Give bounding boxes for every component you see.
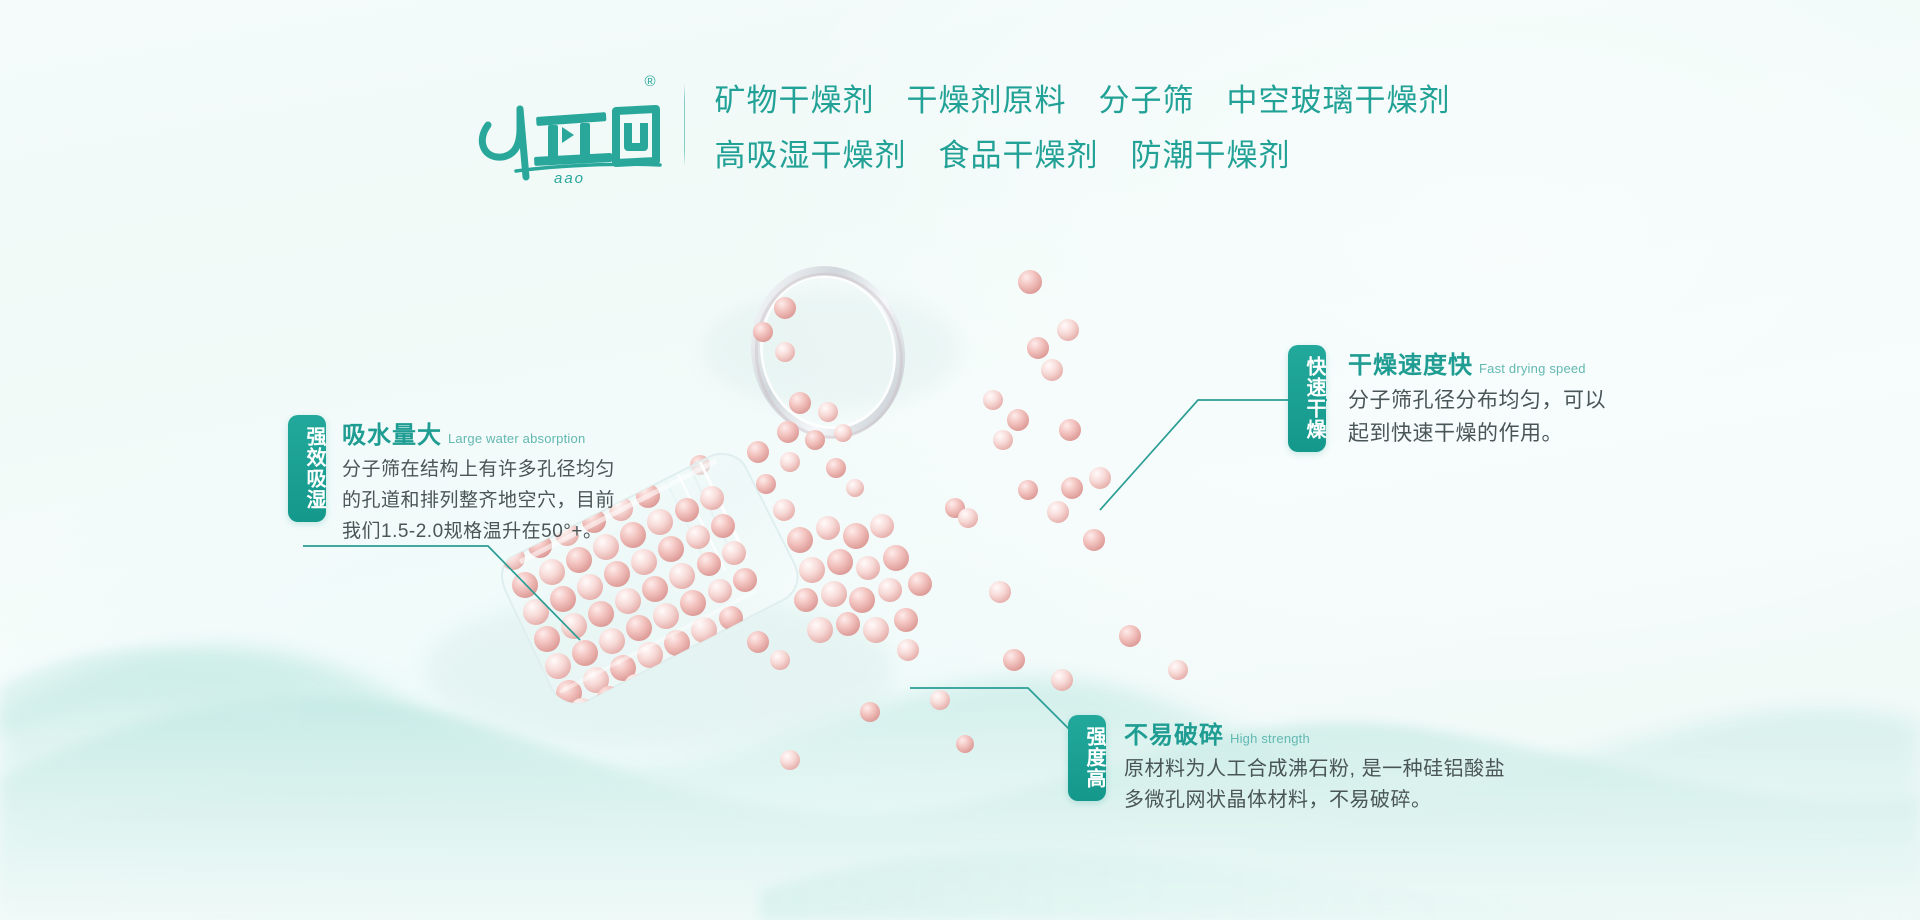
callout-text-speed: 分子筛孔径分布均匀，可以 起到快速干燥的作用。 [1348, 384, 1606, 450]
nav-item-insulating-glass-desiccant[interactable]: 中空玻璃干燥剂 [1227, 75, 1451, 120]
nav-item-molecular-sieve[interactable]: 分子筛 [1099, 75, 1195, 120]
background-waves [0, 590, 1920, 920]
callout-tag-strength: 强度高 [1068, 715, 1106, 801]
callout-large-water-absorption: 强效吸湿 吸水量大 Large water absorption 分子筛在结构上… [288, 415, 615, 547]
callout-subtitle-strength: High strength [1230, 731, 1310, 746]
callout-body-absorption: 吸水量大 Large water absorption 分子筛在结构上有许多孔径… [326, 415, 615, 547]
nav-row-1: 矿物干燥剂 干燥剂原料 分子筛 中空玻璃干燥剂 [715, 75, 1451, 120]
callout-body-speed: 干燥速度快 Fast drying speed 分子筛孔径分布均匀，可以 起到快… [1326, 345, 1606, 450]
registered-trademark-icon: ® [644, 73, 655, 90]
callout-tag-speed: 快速干燥 [1288, 345, 1326, 452]
leader-line-strength [910, 688, 1076, 736]
callout-heading-absorption: 吸水量大 Large water absorption [342, 415, 615, 450]
header-divider [684, 83, 685, 167]
svg-text:aao: aao [554, 170, 585, 185]
logo-mark-icon: aao [470, 65, 670, 185]
callout-heading-speed: 干燥速度快 Fast drying speed [1348, 345, 1606, 380]
callout-fast-drying-speed: 快速干燥 干燥速度快 Fast drying speed 分子筛孔径分布均匀，可… [1288, 345, 1606, 452]
callout-high-strength: 强度高 不易破碎 High strength 原材料为人工合成沸石粉, 是一种硅… [1068, 715, 1505, 816]
callout-title-strength: 不易破碎 [1124, 715, 1224, 750]
callout-text-strength: 原材料为人工合成沸石粉, 是一种硅铝酸盐 多微孔网状晶体材料，不易破碎。 [1124, 754, 1505, 816]
callout-title-speed: 干燥速度快 [1348, 345, 1473, 380]
site-header: aao ® aao 矿物干燥剂 干燥剂原料 分子筛 中空玻璃干燥剂 高吸湿干燥剂… [0, 0, 1920, 250]
banner-root: aao ® aao 矿物干燥剂 干燥剂原料 分子筛 中空玻璃干燥剂 高吸湿干燥剂… [0, 0, 1920, 920]
callout-tag-absorption: 强效吸湿 [288, 415, 326, 522]
nav-item-moisture-proof-desiccant[interactable]: 防潮干燥剂 [1131, 130, 1291, 175]
callout-heading-strength: 不易破碎 High strength [1124, 715, 1505, 750]
callout-subtitle-absorption: Large water absorption [448, 431, 585, 446]
callout-subtitle-speed: Fast drying speed [1479, 361, 1586, 376]
nav-row-2: 高吸湿干燥剂 食品干燥剂 防潮干燥剂 [715, 130, 1451, 175]
leader-line-absorption [303, 546, 580, 640]
primary-nav: 矿物干燥剂 干燥剂原料 分子筛 中空玻璃干燥剂 高吸湿干燥剂 食品干燥剂 防潮干… [715, 75, 1451, 175]
nav-item-desiccant-raw-material[interactable]: 干燥剂原料 [907, 75, 1067, 120]
nav-item-high-moisture-absorption-desiccant[interactable]: 高吸湿干燥剂 [715, 130, 907, 175]
callout-text-absorption: 分子筛在结构上有许多孔径均匀 的孔道和排列整齐地空穴，目前 我们1.5-2.0规… [342, 454, 615, 547]
nav-item-food-desiccant[interactable]: 食品干燥剂 [939, 130, 1099, 175]
callout-title-absorption: 吸水量大 [342, 415, 442, 450]
callout-body-strength: 不易破碎 High strength 原材料为人工合成沸石粉, 是一种硅铝酸盐 … [1106, 715, 1505, 816]
brand-logo[interactable]: aao ® aao [470, 65, 670, 185]
nav-item-mineral-desiccant[interactable]: 矿物干燥剂 [715, 75, 875, 120]
